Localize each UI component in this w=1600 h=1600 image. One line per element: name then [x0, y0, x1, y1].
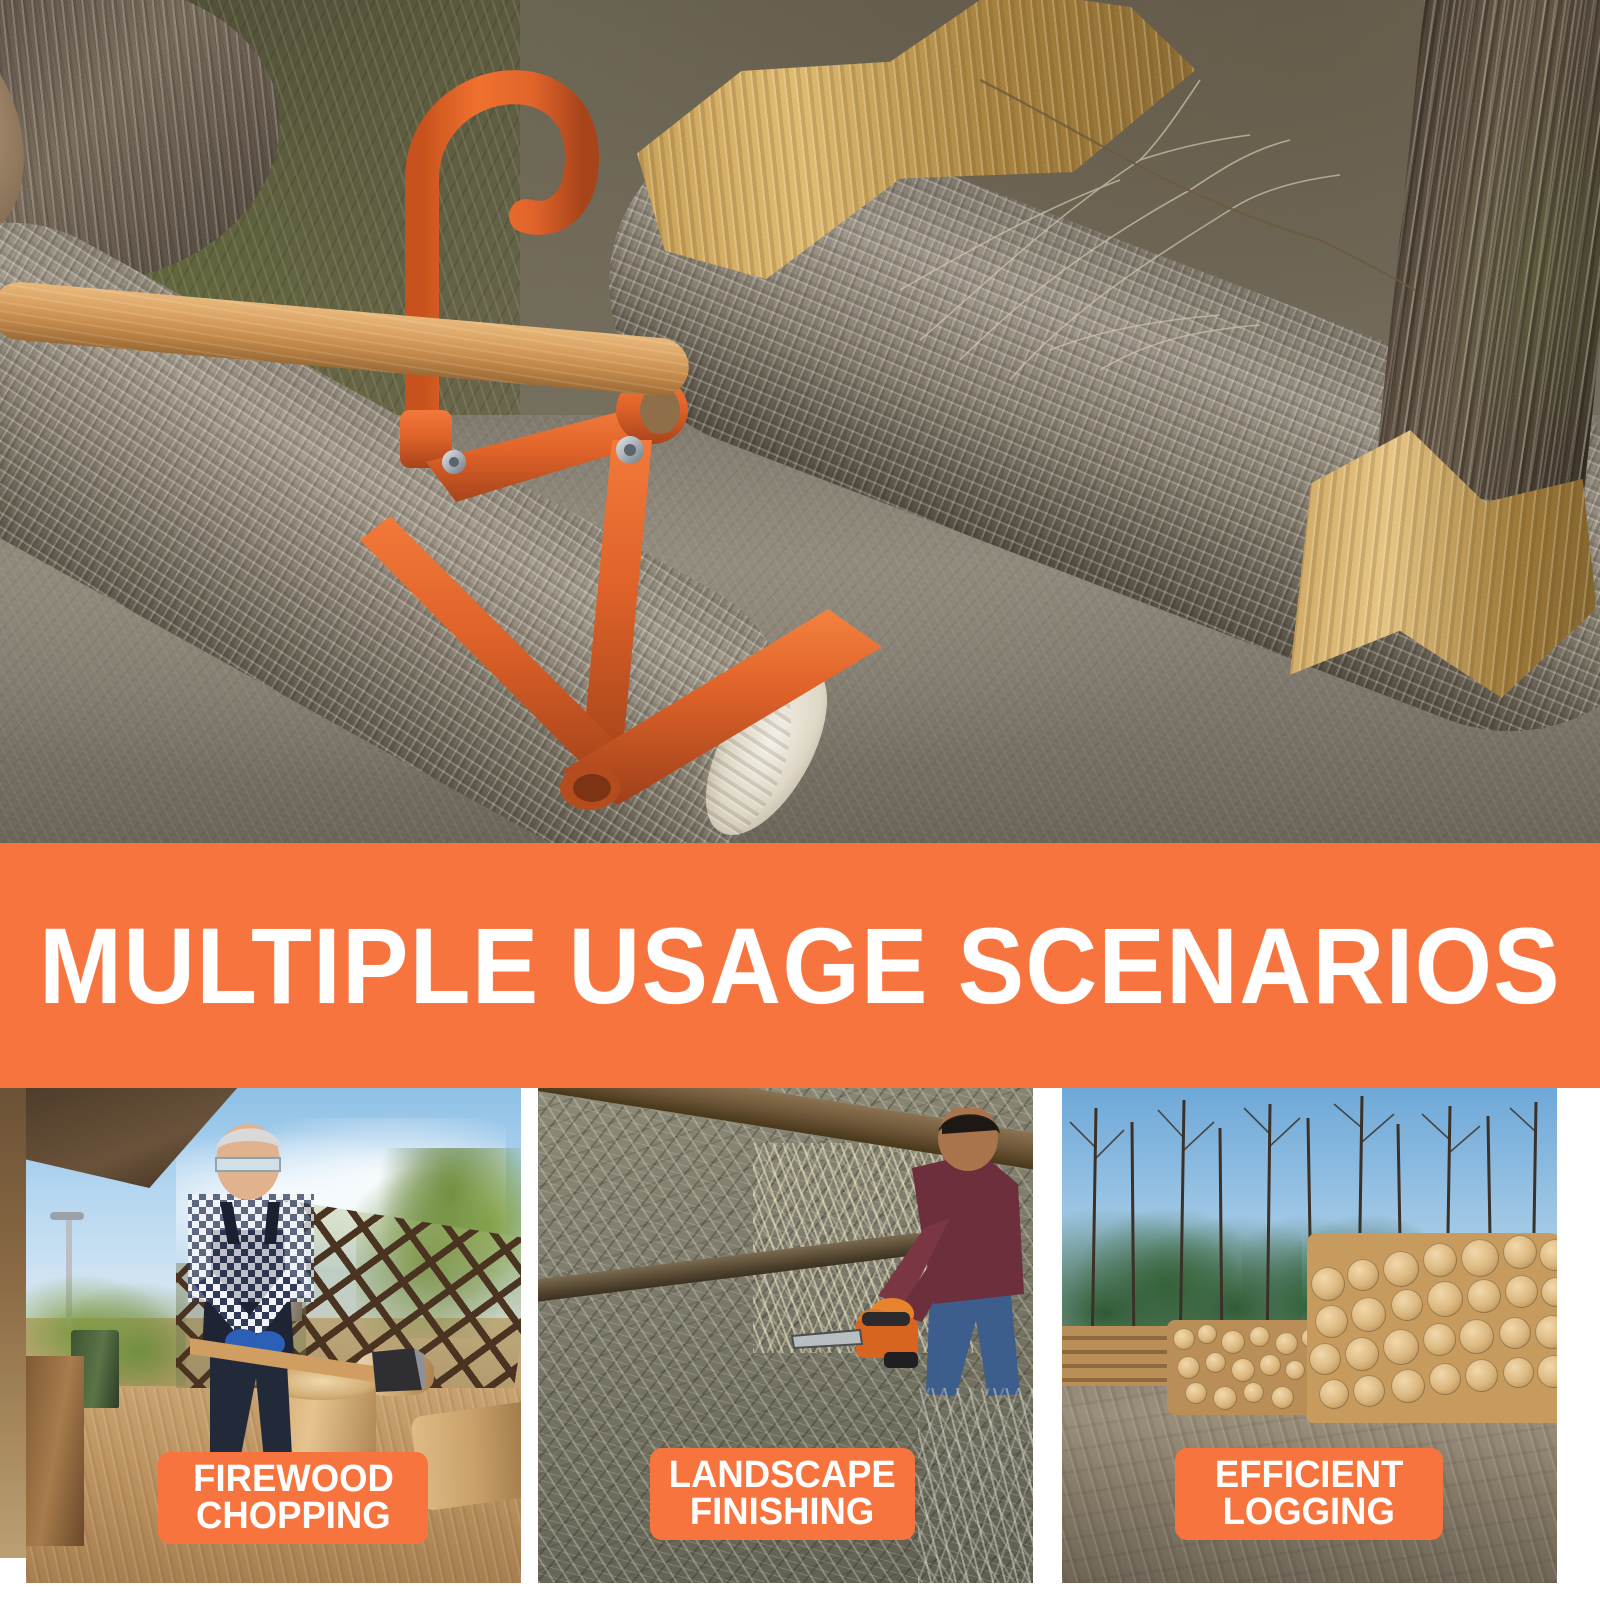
headline-text: MULTIPLE USAGE SCENARIOS	[64, 843, 1536, 1088]
axe-handle	[190, 1338, 374, 1382]
headline-banner: MULTIPLE USAGE SCENARIOS	[0, 843, 1600, 1088]
caption-line-2: LOGGING	[1223, 1494, 1395, 1531]
caption-badge-firewood-chopping: FIREWOOD CHOPPING	[158, 1452, 428, 1544]
caption-line-1: LANDSCAPE	[669, 1457, 896, 1494]
caption-badge-landscape-finishing: LANDSCAPE FINISHING	[650, 1448, 915, 1540]
foreground-branches	[918, 1388, 1033, 1583]
dry-twigs	[900, 40, 1420, 420]
log-left	[26, 1356, 84, 1546]
log-pile-main	[1307, 1233, 1557, 1423]
caption-line-1: FIREWOOD	[193, 1461, 394, 1498]
chainsaw-top-handle	[862, 1312, 910, 1326]
caption-badge-efficient-logging: EFFICIENT LOGGING	[1175, 1448, 1443, 1540]
log-stack-background-left	[1062, 1326, 1182, 1386]
axe	[186, 1320, 436, 1410]
caption-line-2: FINISHING	[690, 1494, 874, 1531]
caption-line-1: EFFICIENT	[1215, 1457, 1403, 1494]
hero-image	[0, 0, 1600, 845]
log-lifter-tool	[330, 10, 810, 800]
chainsaw	[788, 1306, 938, 1376]
caption-line-2: CHOPPING	[196, 1498, 391, 1535]
t-base-foot	[510, 595, 930, 815]
product-feature-poster: MULTIPLE USAGE SCENARIOS	[0, 0, 1600, 1600]
axe-head	[372, 1348, 422, 1392]
